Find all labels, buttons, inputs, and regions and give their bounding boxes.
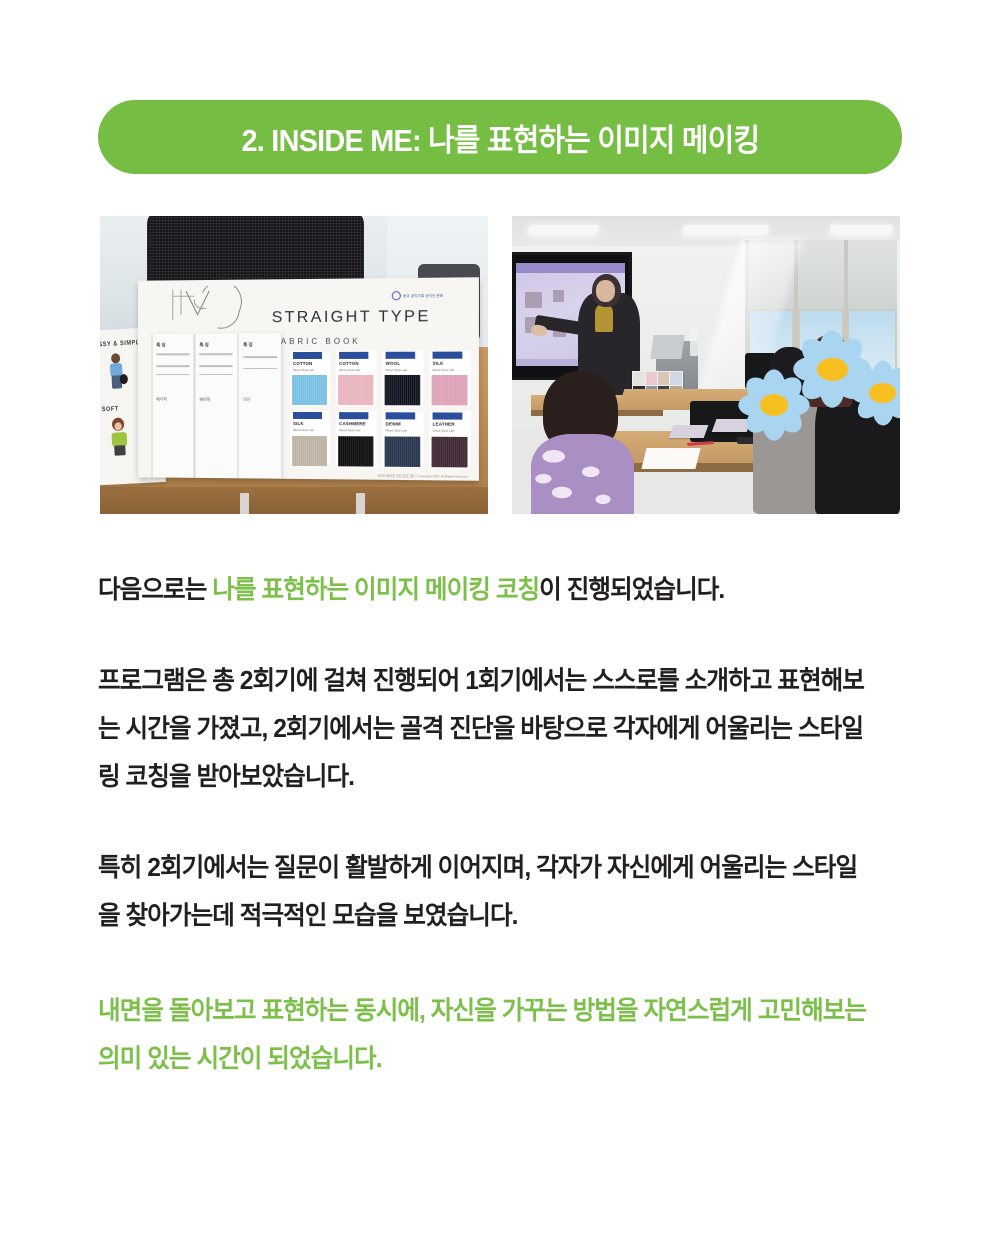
laptop bbox=[650, 335, 684, 359]
swatch-fabric bbox=[431, 436, 467, 467]
logo-text: 한국 공직기록 공직인 문화 bbox=[403, 293, 443, 298]
board-stand bbox=[356, 493, 365, 514]
fabric-swatch: WOOL Mood Style Lab bbox=[383, 350, 424, 406]
swatch-tag bbox=[339, 412, 369, 419]
fabric-swatch: LEATHER Mood Style Lab bbox=[430, 411, 471, 468]
instructor-inner-top bbox=[595, 305, 612, 332]
swatch-name: LEATHER bbox=[432, 421, 454, 426]
swatch-name: COTTON bbox=[293, 360, 312, 365]
paragraph-intro-tail: 이 진행되었습니다. bbox=[539, 576, 724, 604]
paragraph-intro: 다음으로는 나를 표현하는 이미지 메이킹 코칭이 진행되었습니다. bbox=[98, 566, 876, 614]
water-bottle bbox=[690, 329, 698, 356]
swatch-tag bbox=[385, 351, 415, 358]
swatch-fabric bbox=[431, 375, 467, 405]
swatch-name: DENIM bbox=[385, 421, 400, 426]
paragraph-session-two: 특히 2회기에서는 질문이 활발하게 이어지며, 각자가 자신에게 어울리는 스… bbox=[98, 844, 876, 940]
window-blind bbox=[847, 240, 897, 313]
fabric-book-page: 특 징 베이직 bbox=[151, 333, 193, 477]
fabric-book-page: 특 징 베이직 bbox=[194, 333, 237, 478]
page-heading: 특 징 bbox=[243, 341, 252, 347]
swatch-sub: Mood Style Lab bbox=[339, 368, 360, 372]
fabric-book-board: 한국 공직기록 공직인 문화 STRAIGHT TYPE FABRIC BOOK… bbox=[138, 277, 479, 480]
board-stand bbox=[240, 493, 249, 514]
ceiling-light bbox=[681, 225, 769, 235]
swatch-sub: Mood Style Lab bbox=[293, 428, 314, 432]
page-chip-label: 베이직 bbox=[199, 396, 210, 402]
screen-thumbnail bbox=[525, 292, 542, 308]
swatch-fabric bbox=[338, 435, 373, 465]
section-header-banner: 2. INSIDE ME: 나를 표현하는 이미지 메이킹 bbox=[98, 100, 902, 174]
page-heading: 특 징 bbox=[156, 342, 165, 348]
daisy-center bbox=[869, 383, 895, 403]
swatch-tag bbox=[432, 351, 462, 358]
swatch-sub: Mood Style Lab bbox=[385, 368, 406, 372]
fabric-book-page: 특 징 모던 bbox=[238, 333, 281, 478]
swatch-fabric bbox=[292, 375, 327, 405]
swatch-name: SILK bbox=[432, 360, 443, 365]
swatch-tag bbox=[385, 412, 415, 419]
swatch-fabric bbox=[384, 436, 420, 467]
swatch-sub: Mood Style Lab bbox=[339, 428, 360, 432]
logo-mark-icon bbox=[392, 291, 401, 300]
swatch-fabric bbox=[292, 435, 327, 465]
poster-figure-illustration-2 bbox=[100, 415, 141, 457]
name-card bbox=[669, 425, 709, 438]
swatch-tag bbox=[432, 412, 462, 419]
page-title: 2. INSIDE ME: 나를 표현하는 이미지 메이킹 bbox=[241, 115, 759, 160]
photo-row: CLASSY & SIMPLE Y & SOFT bbox=[100, 216, 900, 514]
screen-thumbnail bbox=[553, 290, 564, 302]
swatch-sub: Mood Style Lab bbox=[432, 368, 454, 372]
poster-figure-illustration-1 bbox=[100, 350, 138, 392]
swatch-tag bbox=[339, 351, 369, 358]
ceiling-light bbox=[525, 225, 599, 235]
swatch-sub: Mood Style Lab bbox=[432, 429, 454, 433]
page-chip-label: 베이직 bbox=[156, 396, 167, 402]
swatch-sub: Mood Style Lab bbox=[385, 428, 406, 432]
swatch-name: WOOL bbox=[385, 360, 400, 365]
instructor-face bbox=[596, 280, 615, 302]
fabric-swatch-grid: COTTON Mood Style Lab COTTON Mood Style … bbox=[290, 350, 470, 468]
fabric-swatch: DENIM Mood Style Lab bbox=[383, 411, 424, 467]
page-chip-label: 모던 bbox=[243, 396, 250, 402]
daisy-flower-sticker bbox=[842, 362, 900, 425]
fabric-swatch: COTTON Mood Style Lab bbox=[336, 350, 376, 406]
poster-label-soft: Y & SOFT bbox=[100, 406, 120, 415]
screen-toolbar bbox=[516, 263, 625, 272]
article-body: 다음으로는 나를 표현하는 이미지 메이킹 코칭이 진행되었습니다. 프로그램은… bbox=[98, 566, 904, 1083]
swatch-sub: Mood Style Lab bbox=[293, 368, 314, 372]
fabric-swatch: SILK Mood Style Lab bbox=[430, 350, 471, 407]
organization-logo: 한국 공직기록 공직인 문화 bbox=[392, 287, 469, 304]
board-subtitle: FABRIC BOOK bbox=[273, 336, 360, 345]
swatch-name: CASHMERE bbox=[339, 421, 366, 426]
window-blind bbox=[798, 240, 845, 313]
ceiling-light bbox=[829, 225, 893, 235]
board-footer-text: 이미지 메이킹 코칭 프로그램 ⓒ Copyright 2025. All Ri… bbox=[377, 473, 468, 478]
student-patterned-hoodie bbox=[531, 434, 634, 514]
paragraph-intro-lead: 다음으로는 bbox=[98, 576, 212, 604]
paragraph-closing: 내면을 돌아보고 표현하는 동시에, 자신을 가꾸는 방법을 자연스럽게 고민해… bbox=[98, 987, 876, 1083]
swatch-tag bbox=[293, 352, 322, 359]
classroom-coaching-photo bbox=[512, 216, 900, 514]
paragraph-intro-highlight: 나를 표현하는 이미지 메이킹 코칭 bbox=[212, 576, 539, 604]
swatch-fabric bbox=[384, 375, 420, 405]
fabric-swatch: CASHMERE Mood Style Lab bbox=[336, 411, 376, 467]
swatch-name: COTTON bbox=[339, 360, 359, 365]
page-heading: 특 징 bbox=[199, 342, 208, 348]
swatch-tag bbox=[293, 412, 322, 419]
swatch-fabric bbox=[338, 375, 373, 405]
fabric-book-photo: CLASSY & SIMPLE Y & SOFT bbox=[100, 216, 488, 514]
swatch-name: SILK bbox=[293, 421, 304, 426]
classroom-scene bbox=[512, 216, 900, 514]
board-title: STRAIGHT TYPE bbox=[272, 308, 431, 327]
student-foreground bbox=[543, 371, 663, 514]
fabric-swatch: SILK Mood Style Lab bbox=[290, 411, 330, 467]
desk-edge bbox=[100, 487, 488, 514]
fabric-swatch: COTTON Mood Style Lab bbox=[290, 350, 330, 406]
paragraph-program-detail: 프로그램은 총 2회기에 걸쳐 진행되어 1회기에서는 스스로를 소개하고 표현… bbox=[98, 657, 876, 801]
